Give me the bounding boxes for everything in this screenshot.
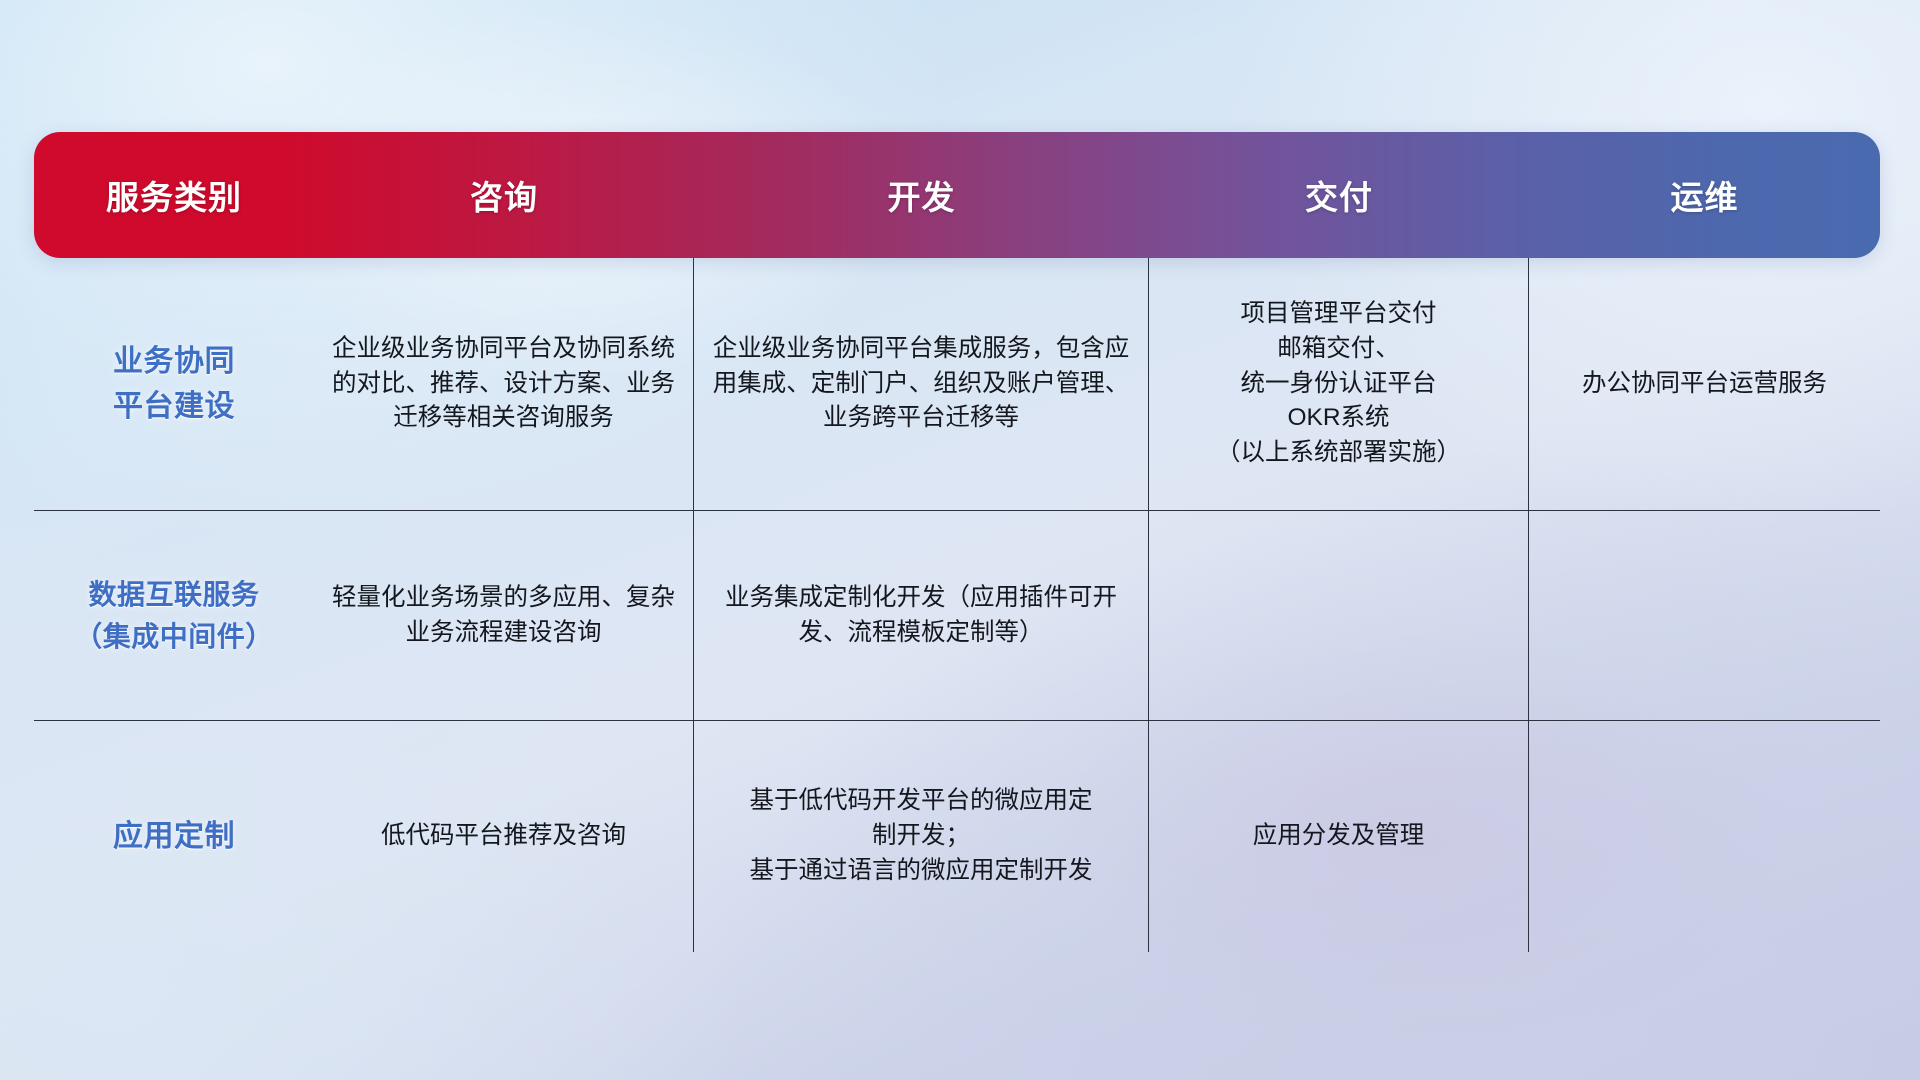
row-category-cell: 数据互联服务 （集成中间件） <box>34 511 314 720</box>
table-row: 业务协同 平台建设 企业级业务协同平台及协同系统的对比、推荐、设计方案、业务迁移… <box>34 258 1880 511</box>
cell-consulting: 企业级业务协同平台及协同系统的对比、推荐、设计方案、业务迁移等相关咨询服务 <box>314 258 694 510</box>
column-header-operations: 运维 <box>1529 171 1880 219</box>
table-row: 应用定制 低代码平台推荐及咨询 基于低代码开发平台的微应用定 制开发； 基于通过… <box>34 721 1880 952</box>
row-category-label-line: 业务协同 <box>113 339 235 384</box>
cell-delivery-line: OKR系统 <box>1216 401 1461 436</box>
column-header-development: 开发 <box>694 171 1149 219</box>
column-header-consulting: 咨询 <box>314 171 694 219</box>
cell-development: 业务集成定制化开发（应用插件可开发、流程模板定制等） <box>694 511 1149 720</box>
service-matrix-table: 服务类别 咨询 开发 交付 运维 业务协同 平台建设 企业级业务协同平台及协同系… <box>34 132 1880 952</box>
cell-development: 基于低代码开发平台的微应用定 制开发； 基于通过语言的微应用定制开发 <box>694 721 1149 952</box>
cell-development-line: 基于低代码开发平台的微应用定 <box>750 784 1093 819</box>
cell-delivery: 应用分发及管理 <box>1149 721 1529 952</box>
cell-development-line: 制开发； <box>750 819 1093 854</box>
row-category-label-line: 平台建设 <box>113 384 235 429</box>
cell-delivery-line: 邮箱交付、 <box>1216 332 1461 367</box>
row-category-label-line: 数据互联服务 <box>74 574 274 616</box>
cell-consulting: 轻量化业务场景的多应用、复杂业务流程建设咨询 <box>314 511 694 720</box>
cell-development: 企业级业务协同平台集成服务，包含应用集成、定制门户、组织及账户管理、业务跨平台迁… <box>694 258 1149 510</box>
cell-consulting: 低代码平台推荐及咨询 <box>314 721 694 952</box>
table-header-row: 服务类别 咨询 开发 交付 运维 <box>34 132 1880 258</box>
cell-operations: 办公协同平台运营服务 <box>1529 258 1880 510</box>
cell-development-line: 基于通过语言的微应用定制开发 <box>750 854 1093 889</box>
cell-operations <box>1529 721 1880 952</box>
column-header-category: 服务类别 <box>34 171 314 219</box>
cell-delivery <box>1149 511 1529 720</box>
row-category-label-line: 应用定制 <box>113 814 235 859</box>
cell-operations <box>1529 511 1880 720</box>
row-category-cell: 业务协同 平台建设 <box>34 258 314 510</box>
cell-delivery-line: 统一身份认证平台 <box>1216 367 1461 402</box>
cell-delivery: 项目管理平台交付 邮箱交付、 统一身份认证平台 OKR系统 （以上系统部署实施） <box>1149 258 1529 510</box>
cell-delivery-line: 项目管理平台交付 <box>1216 297 1461 332</box>
row-category-cell: 应用定制 <box>34 721 314 952</box>
row-category-label-line: （集成中间件） <box>74 616 274 658</box>
column-header-delivery: 交付 <box>1149 171 1529 219</box>
table-body: 业务协同 平台建设 企业级业务协同平台及协同系统的对比、推荐、设计方案、业务迁移… <box>34 258 1880 952</box>
cell-delivery-line: （以上系统部署实施） <box>1216 436 1461 471</box>
table-row: 数据互联服务 （集成中间件） 轻量化业务场景的多应用、复杂业务流程建设咨询 业务… <box>34 511 1880 721</box>
